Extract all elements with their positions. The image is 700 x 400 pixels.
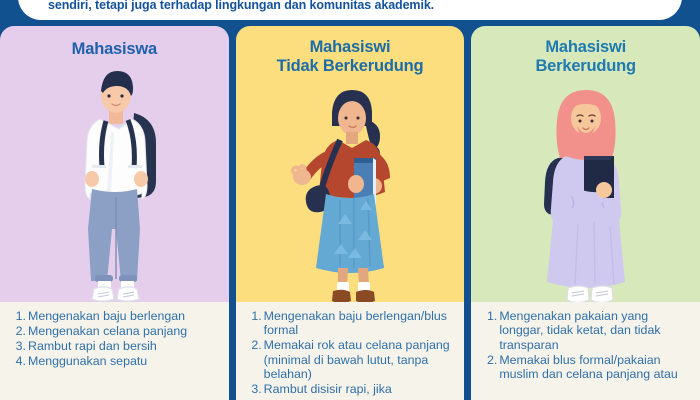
list-item: Rambut rapi dan bersih [10,339,221,353]
list-item: Menggunakan sepatu [10,354,221,368]
column-title-mahasiswi-berkerudung: Mahasiswi Berkerudung [471,26,700,76]
list-item: Rambut disisir rapi, jika [246,382,457,396]
rules-ordered-list: Mengenakan baju berlengan Mengenakan cel… [10,309,221,368]
list-item: Mengenakan celana panjang [10,324,221,338]
column-title-mahasiswi-tidak-berkerudung: Mahasiswi Tidak Berkerudung [236,26,465,76]
rules-list-mahasiswa: Mengenakan baju berlengan Mengenakan cel… [0,302,229,400]
column-mahasiswa: Mahasiswa [0,26,229,400]
rules-ordered-list: Mengenakan pakaian yang longgar, tidak k… [481,309,692,381]
female-student-no-hijab-illustration [282,82,418,314]
column-mahasiswi-tidak-berkerudung: Mahasiswi Tidak Berkerudung [236,26,465,400]
list-item: Mengenakan pakaian yang longgar, tidak k… [481,309,692,352]
column-title-line: Tidak Berkerudung [236,57,465,76]
male-student-illustration [48,61,180,311]
column-title-line: Mahasiswa [0,40,229,59]
rules-list-mahasiswi-berkerudung: Mengenakan pakaian yang longgar, tidak k… [471,302,700,400]
rules-ordered-list: Mengenakan baju berlengan/blus formal Me… [246,309,457,396]
intro-banner-text: sendiri, tetapi juga terhadap lingkungan… [48,0,648,12]
list-item: Memakai blus formal/pakaian muslim dan c… [481,353,692,382]
column-mahasiswi-berkerudung: Mahasiswi Berkerudung [471,26,700,400]
female-student-hijab-illustration [522,84,650,312]
column-title-line: Mahasiswi [471,38,700,57]
list-item: Memakai rok atau celana panjang (minimal… [246,338,457,381]
column-title-mahasiswa: Mahasiswa [0,26,229,59]
rules-list-mahasiswi-tidak-berkerudung: Mengenakan baju berlengan/blus formal Me… [236,302,465,400]
list-item: Mengenakan baju berlengan/blus formal [246,309,457,338]
column-title-line: Mahasiswi [236,38,465,57]
intro-banner: sendiri, tetapi juga terhadap lingkungan… [18,0,682,20]
column-title-line: Berkerudung [471,57,700,76]
comparison-columns: Mahasiswa [0,26,700,400]
list-item: Mengenakan baju berlengan [10,309,221,323]
